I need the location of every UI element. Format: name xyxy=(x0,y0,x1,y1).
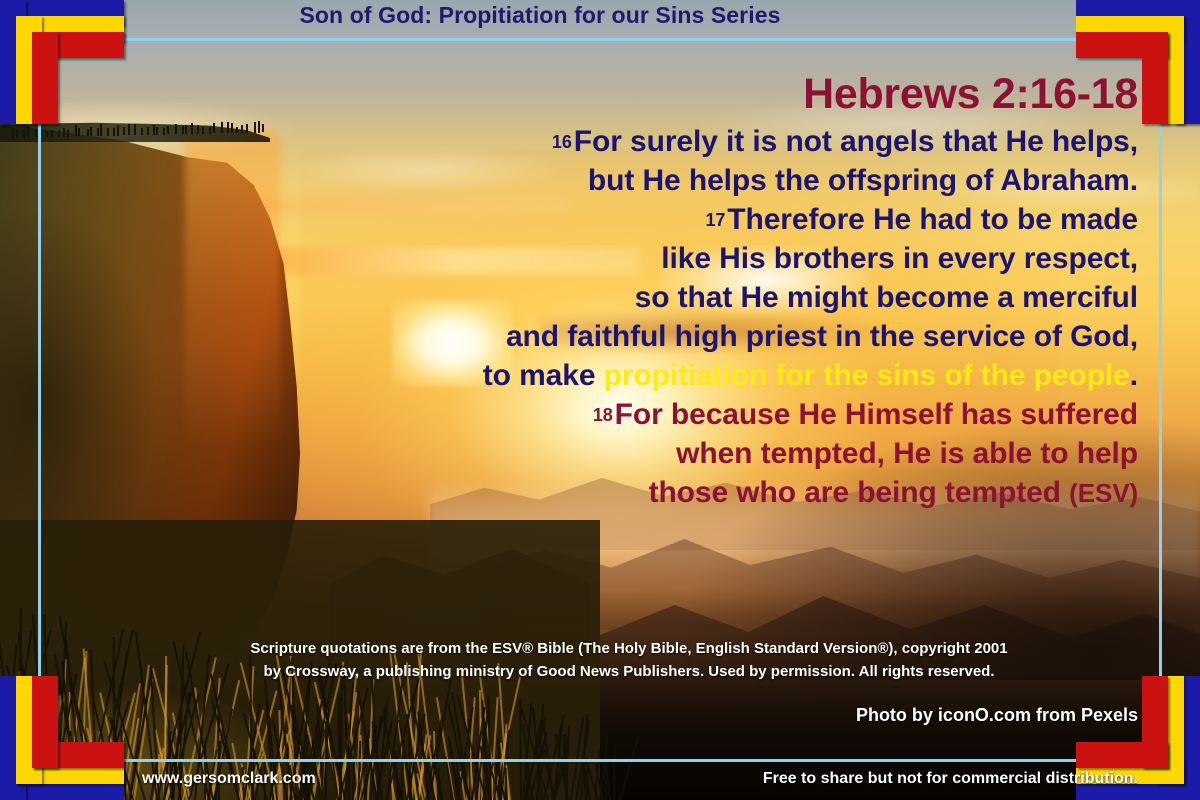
verse-text: and faithful high priest in the service … xyxy=(506,320,1138,353)
verse-number: 18 xyxy=(593,405,613,425)
verse-text: like His brothers in every respect, xyxy=(661,242,1138,275)
verse-line: but He helps the offspring of Abraham. xyxy=(418,161,1138,200)
scripture-block: Hebrews 2:16-18 16For surely it is not a… xyxy=(418,72,1138,512)
verse-line: 18For because He Himself has suffered xyxy=(418,395,1138,434)
verse-text: but He helps the offspring of Abraham. xyxy=(588,164,1138,197)
verse-line: 16For surely it is not angels that He he… xyxy=(418,122,1138,161)
verse-text: those who are being tempted xyxy=(649,476,1070,509)
verse-line: 17Therefore He had to be made xyxy=(418,200,1138,239)
verse-text: For surely it is not angels that He help… xyxy=(574,125,1138,158)
verse-text: when tempted, He is able to help xyxy=(676,437,1138,470)
verse-text: Therefore He had to be made xyxy=(727,203,1138,236)
series-title: Son of God: Propitiation for our Sins Se… xyxy=(0,2,1200,29)
corner-bracket-bottom-left xyxy=(0,676,124,800)
cliff-edge-glow xyxy=(185,130,280,530)
verse-line: so that He might become a merciful xyxy=(418,278,1138,317)
verse-number: 16 xyxy=(552,132,572,152)
website-url[interactable]: www.gersomclark.com xyxy=(142,770,316,788)
verse-line: and faithful high priest in the service … xyxy=(418,317,1138,356)
copyright-line-2: by Crossway, a publishing ministry of Go… xyxy=(120,661,1138,684)
verse-text-prefix: to make xyxy=(483,359,604,392)
bible-version-label: (ESV) xyxy=(1069,478,1138,508)
verse-number: 17 xyxy=(705,210,725,230)
verse-text-suffix: . xyxy=(1130,359,1138,392)
verse-line: like His brothers in every respect, xyxy=(418,239,1138,278)
people-silhouettes xyxy=(0,123,280,139)
corner-arm-red-v xyxy=(1142,32,1168,124)
scripture-reference: Hebrews 2:16-18 xyxy=(418,72,1138,117)
verse-text: For because He Himself has suffered xyxy=(615,398,1138,431)
verse-text: so that He might become a merciful xyxy=(635,281,1138,314)
verse-text-highlight: propitiation for the sins of the people xyxy=(604,359,1130,392)
copyright-notice: Scripture quotations are from the ESV® B… xyxy=(120,638,1138,683)
photo-credit: Photo by iconO.com from Pexels xyxy=(856,705,1138,726)
copyright-line-1: Scripture quotations are from the ESV® B… xyxy=(120,638,1138,661)
corner-arm-red-v xyxy=(32,676,58,768)
corner-arm-red-v xyxy=(1142,676,1168,768)
verse-line: those who are being tempted (ESV) xyxy=(418,473,1138,512)
slide-canvas: Son of God: Propitiation for our Sins Se… xyxy=(0,0,1200,800)
corner-arm-red-v xyxy=(32,32,58,124)
verse-line: when tempted, He is able to help xyxy=(418,434,1138,473)
share-notice: Free to share but not for commercial dis… xyxy=(763,770,1138,788)
verse-line-highlighted: to make propitiation for the sins of the… xyxy=(418,356,1138,395)
